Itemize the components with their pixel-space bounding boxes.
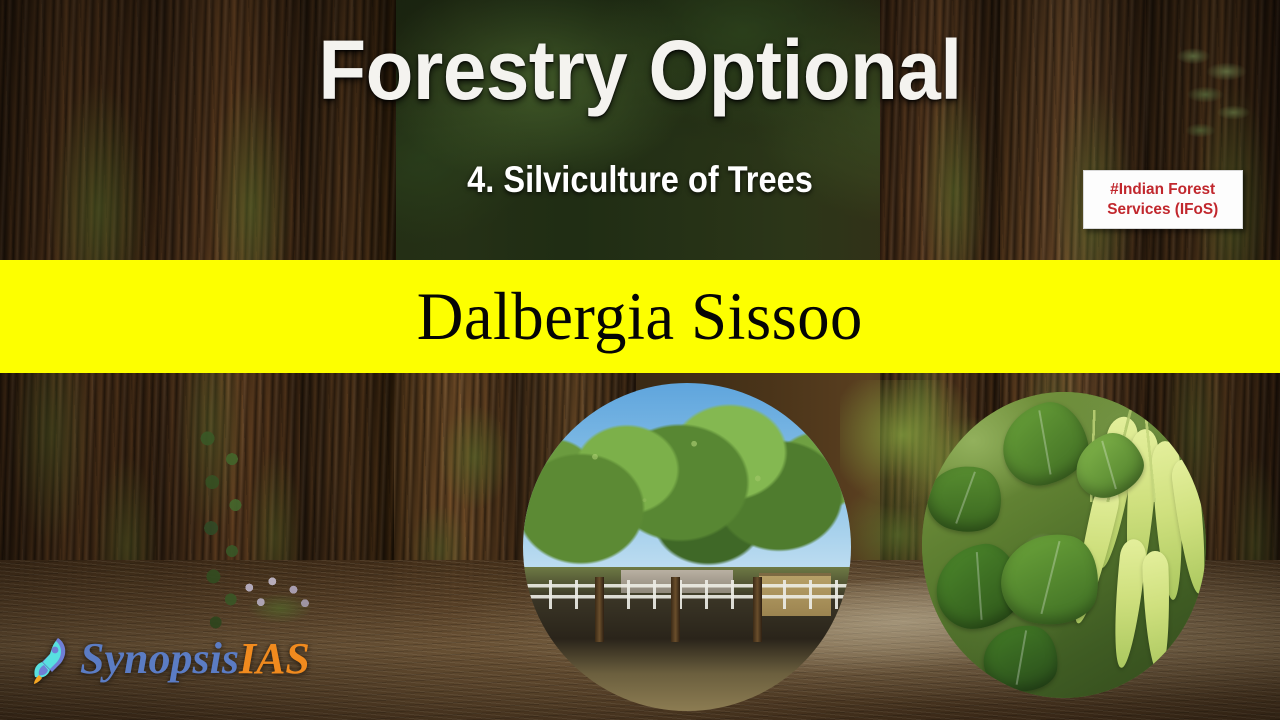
- logo-wordmark: SynopsisIAS: [80, 637, 310, 681]
- dalbergia-sissoo-leaves-pods-photo: [922, 392, 1206, 698]
- logo-word-ias: IAS: [239, 634, 310, 683]
- species-name: Dalbergia Sissoo: [417, 277, 863, 356]
- logo-word-synopsis: Synopsis: [80, 634, 239, 683]
- photo-leaf-highlights: [523, 396, 851, 612]
- ground-flowers: [232, 572, 328, 624]
- photo-tree-canopy: [523, 396, 851, 612]
- page-title: Forestry Optional: [45, 28, 1235, 112]
- dalbergia-sissoo-trees-photo: [523, 383, 851, 711]
- slide-canvas: Forestry Optional 4. Silviculture of Tre…: [0, 0, 1280, 720]
- ifos-badge-line2: Services (IFoS): [1107, 200, 1218, 220]
- page-subtitle: 4. Silviculture of Trees: [77, 160, 1203, 201]
- ifos-badge: #Indian Forest Services (IFoS): [1083, 170, 1243, 229]
- ifos-badge-line1: #Indian Forest: [1110, 180, 1215, 200]
- synopsis-ias-logo[interactable]: SynopsisIAS: [28, 634, 310, 684]
- species-banner: Dalbergia Sissoo: [0, 260, 1280, 373]
- rocket-icon: [28, 634, 74, 684]
